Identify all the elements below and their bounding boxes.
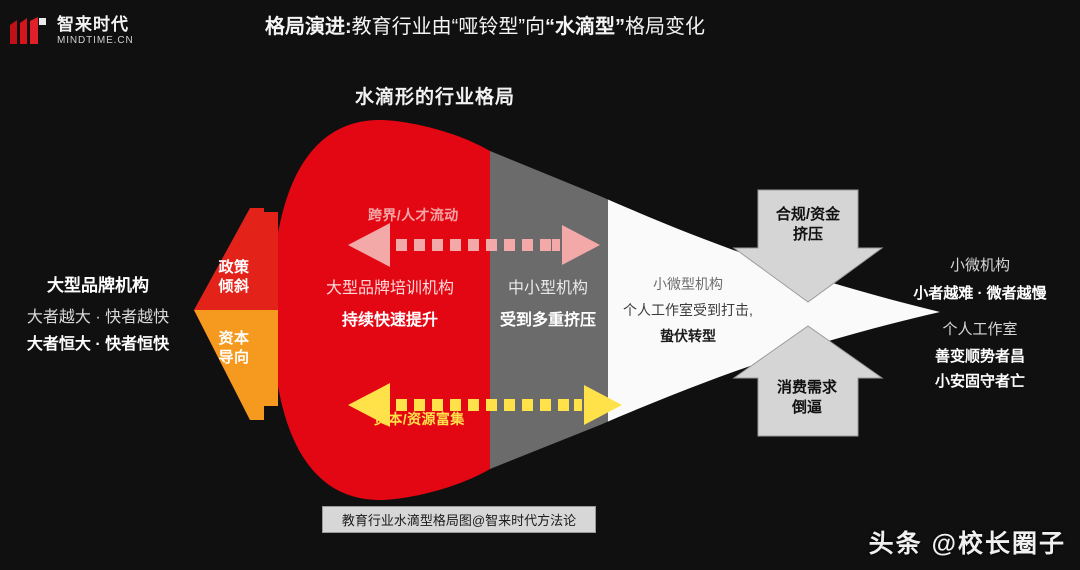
- right-segment-top-text: 小微机构 小者越难 · 微者越慢: [880, 256, 1080, 305]
- red-zone-text: 大型品牌培训机构 持续快速提升: [290, 278, 490, 331]
- red-zone-body: 持续快速提升: [290, 310, 490, 332]
- white-zone-text: 小微型机构 个人工作室受到打击, 蛰伏转型: [598, 275, 778, 346]
- right-sub-line-1: 善变顺势者昌: [880, 347, 1080, 367]
- capital-label-line-2: 导向: [206, 348, 262, 367]
- page-title: 格局演进:教育行业由“哑铃型”向“水滴型”格局变化: [265, 12, 885, 42]
- infographic-canvas: 智来时代 MINDTIME.CN 格局演进:教育行业由“哑铃型”向“水滴型”格局…: [0, 0, 1080, 570]
- brand-logo: 智来时代 MINDTIME.CN: [8, 8, 158, 54]
- page-title-label: 格局演进:: [265, 16, 352, 38]
- capital-arrow-label: 资本 导向: [206, 329, 262, 367]
- page-title-rest: 教育行业由“哑铃型”向: [352, 16, 545, 38]
- mindtime-m-mark-icon: [8, 16, 50, 46]
- red-zone-heading: 大型品牌培训机构: [290, 278, 490, 300]
- compliance-label-line-2: 挤压: [756, 225, 860, 245]
- compliance-arrow-label: 合规/资金 挤压: [756, 205, 860, 245]
- white-zone-body: 蛰伏转型: [598, 327, 778, 346]
- gray-zone-heading: 中小型机构: [488, 278, 608, 300]
- right-heading: 小微机构: [880, 256, 1080, 276]
- white-zone-heading: 小微型机构: [598, 275, 778, 294]
- brand-name-cn: 智来时代: [57, 16, 134, 33]
- page-title-emphasis: “水滴型”: [545, 16, 625, 38]
- watermark: 头条 @校长圈子: [869, 524, 1066, 560]
- left-heading: 大型品牌机构: [0, 275, 196, 298]
- gray-zone-text: 中小型机构 受到多重挤压: [488, 278, 608, 331]
- brand-name-en: MINDTIME.CN: [57, 36, 134, 46]
- compliance-label-line-1: 合规/资金: [756, 205, 860, 225]
- left-line-2: 大者恒大 · 快者恒快: [0, 334, 196, 356]
- policy-arrow-label: 政策 倾斜: [206, 258, 262, 296]
- policy-label-line-2: 倾斜: [206, 277, 262, 296]
- gray-zone-body: 受到多重挤压: [488, 310, 608, 332]
- capital-label-line-1: 资本: [206, 329, 262, 348]
- page-title-tail: 格局变化: [625, 16, 705, 38]
- white-zone-line: 个人工作室受到打击,: [598, 301, 778, 320]
- left-line-1: 大者越大 · 快者越快: [0, 307, 196, 329]
- diagram-caption: 教育行业水滴型格局图@智来时代方法论: [322, 506, 596, 533]
- demand-label-line-2: 倒逼: [752, 398, 862, 418]
- left-driver-arrow: [192, 198, 278, 430]
- demand-label-line-1: 消费需求: [752, 378, 862, 398]
- right-segment-bottom-text: 个人工作室 善变顺势者昌 小安固守者亡: [880, 320, 1080, 396]
- right-sub-heading: 个人工作室: [880, 320, 1080, 340]
- right-sub-line-2: 小安固守者亡: [880, 372, 1080, 392]
- flow-bottom-label: 资本/资源富集: [374, 409, 465, 429]
- flow-top-label: 跨界/人才流动: [368, 205, 459, 225]
- demand-arrow-label: 消费需求 倒逼: [752, 378, 862, 418]
- left-segment-text: 大型品牌机构 大者越大 · 快者越快 大者恒大 · 快者恒快: [0, 275, 196, 355]
- right-body: 小者越难 · 微者越慢: [880, 284, 1080, 304]
- policy-label-line-1: 政策: [206, 258, 262, 277]
- page-subtitle: 水滴形的行业格局: [355, 82, 515, 109]
